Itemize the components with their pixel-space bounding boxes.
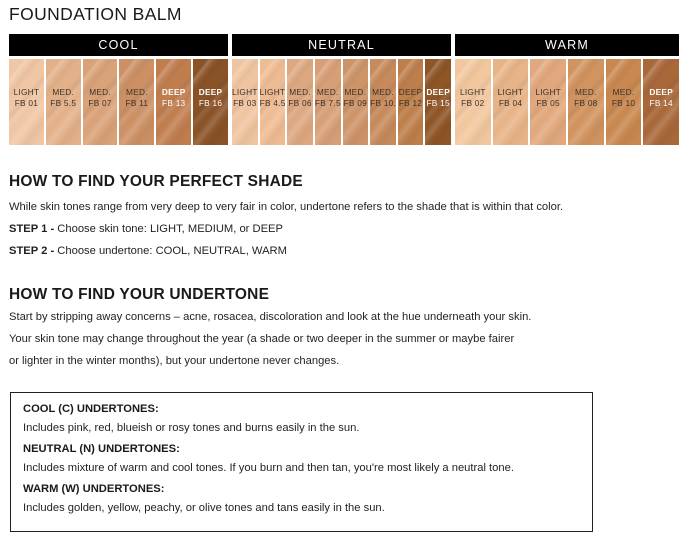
undertone-paragraph-line-2: Your skin tone may change throughout the… — [9, 333, 514, 345]
undertone-definitions-box: COOL (C) UNDERTONES: Includes pink, red,… — [10, 392, 593, 532]
swatch-tone: LIGHT — [530, 87, 566, 98]
swatch-tone: DEEP — [193, 87, 228, 98]
swatch-fb-02[interactable]: LIGHT FB 02 — [455, 59, 491, 145]
undertone-warm-desc: Includes golden, yellow, peachy, or oliv… — [23, 502, 580, 514]
swatch-fb-14[interactable]: DEEP FB 14 — [643, 59, 679, 145]
swatch-tone: MED. — [46, 87, 81, 98]
swatch-code: FB 11 — [119, 98, 154, 109]
swatch-label: MED. FB 11 — [119, 87, 154, 108]
swatch-tone: LIGHT — [493, 87, 529, 98]
swatch-code: FB 16 — [193, 98, 228, 109]
swatch-tone: DEEP — [643, 87, 679, 98]
swatch-tone: DEEP — [398, 87, 424, 98]
swatch-label: LIGHT FB 02 — [455, 87, 491, 108]
swatch-code: FB 14 — [643, 98, 679, 109]
swatch-label: DEEP FB 16 — [193, 87, 228, 108]
swatch-fb-04[interactable]: LIGHT FB 04 — [493, 59, 529, 145]
swatch-fb-12[interactable]: DEEP FB 12 — [398, 59, 424, 145]
step-1-text: Choose skin tone: LIGHT, MEDIUM, or DEEP — [54, 223, 283, 235]
swatch-label: MED. FB 07 — [83, 87, 118, 108]
swatch-code: FB 08 — [568, 98, 604, 109]
swatch-tone: MED. — [83, 87, 118, 98]
undertone-block-warm: WARM (W) UNDERTONES: Includes golden, ye… — [23, 483, 580, 514]
swatch-row-neutral: LIGHT FB 03 LIGHT FB 4.5 MED. FB 06 — [232, 59, 451, 145]
swatch-fb-4-5[interactable]: LIGHT FB 4.5 — [260, 59, 286, 145]
shade-group-cool: COOL LIGHT FB 01 MED. FB 5.5 MED. — [9, 34, 228, 145]
swatch-code: FB 06 — [287, 98, 313, 109]
swatch-label: LIGHT FB 4.5 — [260, 87, 286, 108]
swatch-tone: MED. — [315, 87, 341, 98]
swatch-fb-10[interactable]: MED. FB 10 — [606, 59, 642, 145]
swatch-label: MED. FB 10.5 — [370, 87, 396, 108]
swatch-code: FB 05 — [530, 98, 566, 109]
swatch-label: LIGHT FB 05 — [530, 87, 566, 108]
swatch-row-cool: LIGHT FB 01 MED. FB 5.5 MED. FB 07 — [9, 59, 228, 145]
swatch-label: DEEP FB 14 — [643, 87, 679, 108]
perfect-shade-step-2: STEP 2 - Choose undertone: COOL, NEUTRAL… — [9, 245, 287, 257]
swatch-code: FB 4.5 — [260, 98, 286, 109]
swatch-fb-15[interactable]: DEEP FB 15 — [425, 59, 451, 145]
swatch-tone: LIGHT — [9, 87, 44, 98]
swatch-row-warm: LIGHT FB 02 LIGHT FB 04 LIGHT FB 05 — [455, 59, 679, 145]
swatch-code: FB 15 — [425, 98, 451, 109]
step-2-label: STEP 2 - — [9, 245, 54, 257]
swatch-fb-10-5[interactable]: MED. FB 10.5 — [370, 59, 396, 145]
swatch-fb-11[interactable]: MED. FB 11 — [119, 59, 154, 145]
swatch-fb-05[interactable]: LIGHT FB 05 — [530, 59, 566, 145]
swatch-fb-09[interactable]: MED. FB 09 — [343, 59, 369, 145]
swatch-tone: LIGHT — [455, 87, 491, 98]
swatch-label: MED. FB 5.5 — [46, 87, 81, 108]
swatch-fb-03[interactable]: LIGHT FB 03 — [232, 59, 258, 145]
undertone-neutral-title: NEUTRAL (N) UNDERTONES: — [23, 443, 580, 455]
undertone-paragraph-line-3: or lighter in the winter months), but yo… — [9, 355, 339, 367]
swatch-fb-08[interactable]: MED. FB 08 — [568, 59, 604, 145]
swatch-code: FB 04 — [493, 98, 529, 109]
perfect-shade-intro: While skin tones range from very deep to… — [9, 201, 563, 213]
step-1-label: STEP 1 - — [9, 223, 54, 235]
swatch-label: LIGHT FB 03 — [232, 87, 258, 108]
swatch-tone: MED. — [370, 87, 396, 98]
swatch-tone: MED. — [568, 87, 604, 98]
swatch-fb-06[interactable]: MED. FB 06 — [287, 59, 313, 145]
undertone-cool-title: COOL (C) UNDERTONES: — [23, 403, 580, 415]
shade-group-warm: WARM LIGHT FB 02 LIGHT FB 04 LIGH — [455, 34, 679, 145]
undertone-paragraph-line-1: Start by stripping away concerns – acne,… — [9, 311, 531, 323]
swatch-label: LIGHT FB 01 — [9, 87, 44, 108]
shade-chart: COOL LIGHT FB 01 MED. FB 5.5 MED. — [9, 34, 679, 145]
swatch-label: DEEP FB 12 — [398, 87, 424, 108]
undertone-warm-title: WARM (W) UNDERTONES: — [23, 483, 580, 495]
swatch-fb-01[interactable]: LIGHT FB 01 — [9, 59, 44, 145]
swatch-fb-07[interactable]: MED. FB 07 — [83, 59, 118, 145]
swatch-label: MED. FB 08 — [568, 87, 604, 108]
swatch-code: FB 03 — [232, 98, 258, 109]
swatch-label: MED. FB 09 — [343, 87, 369, 108]
swatch-code: FB 5.5 — [46, 98, 81, 109]
swatch-label: LIGHT FB 04 — [493, 87, 529, 108]
swatch-code: FB 02 — [455, 98, 491, 109]
heading-find-undertone: HOW TO FIND YOUR UNDERTONE — [9, 286, 269, 304]
undertone-neutral-desc: Includes mixture of warm and cool tones.… — [23, 462, 580, 474]
swatch-tone: MED. — [606, 87, 642, 98]
undertone-block-cool: COOL (C) UNDERTONES: Includes pink, red,… — [23, 403, 580, 434]
group-header-warm: WARM — [455, 34, 679, 56]
swatch-code: FB 10 — [606, 98, 642, 109]
swatch-fb-5-5[interactable]: MED. FB 5.5 — [46, 59, 81, 145]
swatch-fb-7-5[interactable]: MED. FB 7.5 — [315, 59, 341, 145]
swatch-tone: LIGHT — [232, 87, 258, 98]
group-header-cool: COOL — [9, 34, 228, 56]
swatch-code: FB 10.5 — [370, 98, 396, 109]
swatch-tone: MED. — [343, 87, 369, 98]
foundation-balm-shade-guide: FOUNDATION BALM COOL LIGHT FB 01 MED. FB… — [0, 0, 679, 544]
shade-group-neutral: NEUTRAL LIGHT FB 03 LIGHT FB 4.5 — [232, 34, 451, 145]
swatch-label: MED. FB 7.5 — [315, 87, 341, 108]
swatch-tone: MED. — [119, 87, 154, 98]
swatch-label: DEEP FB 13 — [156, 87, 191, 108]
swatch-code: FB 07 — [83, 98, 118, 109]
swatch-label: MED. FB 10 — [606, 87, 642, 108]
perfect-shade-step-1: STEP 1 - Choose skin tone: LIGHT, MEDIUM… — [9, 223, 283, 235]
swatch-label: MED. FB 06 — [287, 87, 313, 108]
swatch-code: FB 13 — [156, 98, 191, 109]
swatch-fb-16[interactable]: DEEP FB 16 — [193, 59, 228, 145]
swatch-code: FB 12 — [398, 98, 424, 109]
swatch-tone: DEEP — [156, 87, 191, 98]
undertone-block-neutral: NEUTRAL (N) UNDERTONES: Includes mixture… — [23, 443, 580, 474]
group-header-neutral: NEUTRAL — [232, 34, 451, 56]
swatch-label: DEEP FB 15 — [425, 87, 451, 108]
swatch-fb-13[interactable]: DEEP FB 13 — [156, 59, 191, 145]
swatch-tone: MED. — [287, 87, 313, 98]
swatch-code: FB 09 — [343, 98, 369, 109]
page-title: FOUNDATION BALM — [9, 4, 182, 25]
swatch-tone: DEEP — [425, 87, 451, 98]
swatch-tone: LIGHT — [260, 87, 286, 98]
step-2-text: Choose undertone: COOL, NEUTRAL, WARM — [54, 245, 287, 257]
undertone-cool-desc: Includes pink, red, blueish or rosy tone… — [23, 422, 580, 434]
swatch-code: FB 01 — [9, 98, 44, 109]
swatch-code: FB 7.5 — [315, 98, 341, 109]
heading-perfect-shade: HOW TO FIND YOUR PERFECT SHADE — [9, 173, 303, 191]
